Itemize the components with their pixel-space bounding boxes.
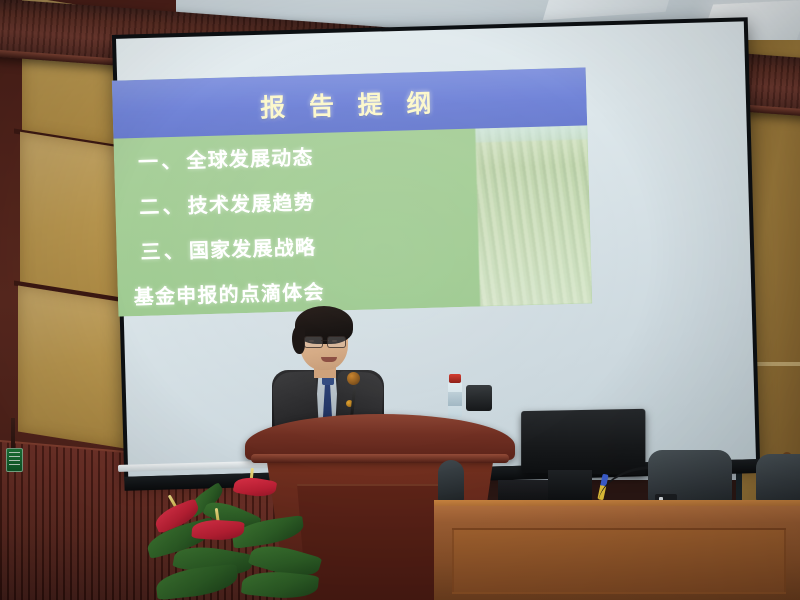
computer-monitor [521,409,645,475]
desk-front-panel [452,528,786,594]
exit-sign-post [11,418,15,452]
microphone-icon [347,372,360,385]
emergency-exit-sign [6,448,23,472]
slide-list-text: 技术发展趋势 [187,190,315,218]
slide-list-item: 二、技术发展趋势 [139,182,470,220]
glasses-lens-left [304,336,323,348]
slide-photo-sugarcane [475,105,592,306]
slide-list-number: 一、 [138,149,185,174]
presenter-mouth [321,357,337,362]
slide-body-list: 一、全球发展动态 二、技术发展趋势 三、国家发展战略 基金申报的点滴体会 [138,137,473,317]
water-bottle-cap [449,374,461,383]
red-anthurium-plant [146,472,326,600]
slide-list-text: 国家发展战略 [189,235,317,263]
glasses-lens-right [327,336,346,348]
glasses-icon [304,336,346,346]
slide-list-text: 全球发展动态 [186,145,314,173]
slide-list-item: 三、国家发展战略 [140,227,471,265]
conference-hall-photo: 报 告 提 纲 一、全球发展动态 二、技术发展趋势 三、国家发展战略 基金申报的… [0,0,800,600]
plant-leaf [155,564,239,600]
presentation-slide: 报 告 提 纲 一、全球发展动态 二、技术发展趋势 三、国家发展战略 基金申报的… [112,67,592,316]
chair [438,460,464,504]
podium-device [466,385,492,411]
slide-list-number: 三、 [140,239,187,264]
flower-bloom [233,474,277,499]
water-bottle-label [448,392,462,406]
chair [756,454,800,504]
monitor-stand [548,470,592,504]
podium-lip [251,454,509,463]
exit-sign-glyph [9,452,20,468]
slide-list-number: 二、 [139,194,186,219]
